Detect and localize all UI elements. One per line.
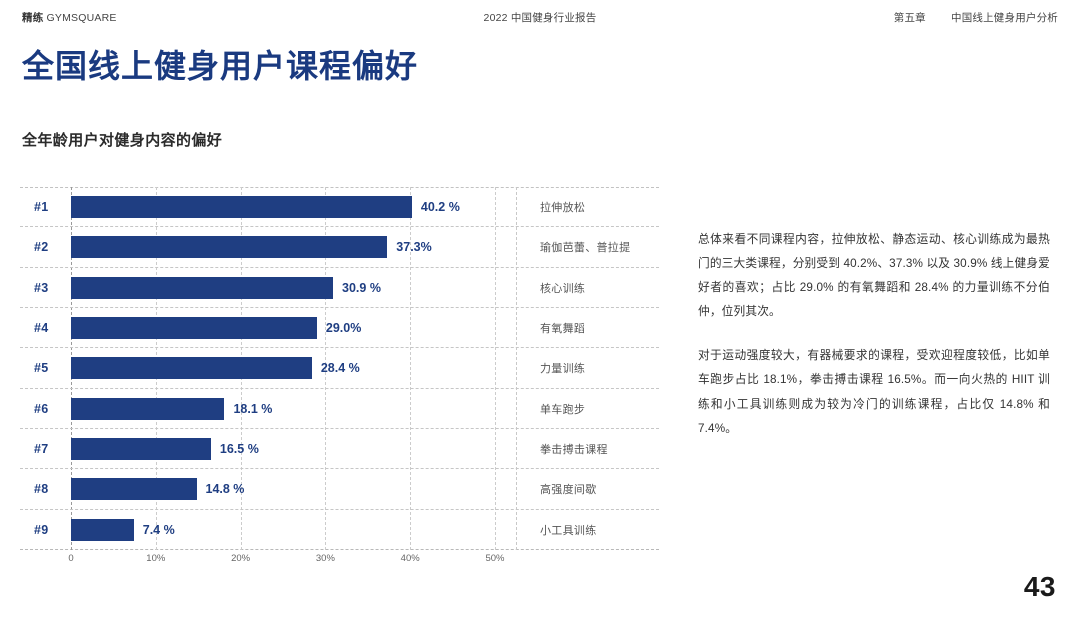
rank-label: #5 bbox=[34, 361, 49, 375]
page-number: 43 bbox=[1024, 571, 1056, 603]
chart-row: #140.2 %拉伸放松 bbox=[20, 187, 659, 227]
category-label: 核心训练 bbox=[540, 280, 585, 296]
chart-x-axis: 010%20%30%40%50% bbox=[20, 553, 659, 573]
chart-row: #716.5 %拳击搏击课程 bbox=[20, 429, 659, 469]
category-label: 单车跑步 bbox=[540, 401, 585, 417]
chart-row: #814.8 %高强度间歇 bbox=[20, 469, 659, 509]
bar-value-label: 37.3% bbox=[396, 240, 431, 254]
rank-label: #2 bbox=[34, 240, 49, 254]
chart-rows: #140.2 %拉伸放松#237.3%瑜伽芭蕾、普拉提#330.9 %核心训练#… bbox=[20, 187, 659, 550]
bar-value-label: 29.0% bbox=[326, 321, 361, 335]
bar-value-label: 16.5 % bbox=[220, 442, 259, 456]
chart-row: #618.1 %单车跑步 bbox=[20, 389, 659, 429]
chart-row: #237.3%瑜伽芭蕾、普拉提 bbox=[20, 227, 659, 267]
category-label: 力量训练 bbox=[540, 360, 585, 376]
bar-chart: #140.2 %拉伸放松#237.3%瑜伽芭蕾、普拉提#330.9 %核心训练#… bbox=[20, 187, 659, 550]
bar bbox=[71, 357, 312, 379]
bar-value-label: 40.2 % bbox=[421, 200, 460, 214]
analysis-notes: 总体来看不同课程内容，拉伸放松、静态运动、核心训练成为最热门的三大类课程，分别受… bbox=[698, 228, 1050, 441]
category-label: 拉伸放松 bbox=[540, 199, 585, 215]
bar bbox=[71, 478, 197, 500]
chart-row: #528.4 %力量训练 bbox=[20, 348, 659, 388]
report-page: 精练 GYMSQUARE 2022 中国健身行业报告 第五章 中国线上健身用户分… bbox=[0, 0, 1080, 619]
rank-label: #1 bbox=[34, 200, 49, 214]
rank-label: #6 bbox=[34, 402, 49, 416]
category-label: 高强度间歇 bbox=[540, 481, 597, 497]
chapter-title: 中国线上健身用户分析 bbox=[951, 12, 1058, 24]
bar-value-label: 7.4 % bbox=[143, 523, 175, 537]
bar-value-label: 18.1 % bbox=[233, 402, 272, 416]
category-label: 有氧舞蹈 bbox=[540, 320, 585, 336]
bar bbox=[71, 277, 333, 299]
x-axis-tick-label: 50% bbox=[485, 553, 504, 564]
rank-label: #4 bbox=[34, 321, 49, 335]
rank-label: #7 bbox=[34, 442, 49, 456]
bar bbox=[71, 519, 134, 541]
bar bbox=[71, 438, 211, 460]
chart-row: #429.0%有氧舞蹈 bbox=[20, 308, 659, 348]
bar bbox=[71, 236, 387, 258]
page-title: 全国线上健身用户课程偏好 bbox=[22, 47, 418, 85]
chart-row: #97.4 %小工具训练 bbox=[20, 510, 659, 550]
header-chapter: 第五章 中国线上健身用户分析 bbox=[894, 10, 1058, 25]
bar-value-label: 14.8 % bbox=[206, 482, 245, 496]
chart-row: #330.9 %核心训练 bbox=[20, 268, 659, 308]
x-axis-tick-label: 30% bbox=[316, 553, 335, 564]
rank-label: #3 bbox=[34, 281, 49, 295]
rank-label: #9 bbox=[34, 523, 49, 537]
chapter-number: 第五章 bbox=[894, 10, 926, 25]
category-label: 拳击搏击课程 bbox=[540, 441, 608, 457]
report-title-text: 2022 中国健身行业报告 bbox=[484, 12, 597, 24]
bar-value-label: 30.9 % bbox=[342, 281, 381, 295]
bar bbox=[71, 317, 317, 339]
x-axis-tick-label: 20% bbox=[231, 553, 250, 564]
page-subtitle: 全年龄用户对健身内容的偏好 bbox=[22, 129, 222, 150]
notes-paragraph-2: 对于运动强度较大，有器械要求的课程，受欢迎程度较低，比如单车跑步占比 18.1%… bbox=[698, 344, 1050, 440]
rank-label: #8 bbox=[34, 482, 49, 496]
bar bbox=[71, 196, 412, 218]
x-axis-tick-label: 10% bbox=[146, 553, 165, 564]
page-header: 精练 GYMSQUARE 2022 中国健身行业报告 第五章 中国线上健身用户分… bbox=[0, 10, 1080, 30]
bar-value-label: 28.4 % bbox=[321, 361, 360, 375]
x-axis-tick-label: 40% bbox=[401, 553, 420, 564]
notes-paragraph-1: 总体来看不同课程内容，拉伸放松、静态运动、核心训练成为最热门的三大类课程，分别受… bbox=[698, 228, 1050, 324]
category-label: 小工具训练 bbox=[540, 522, 597, 538]
category-label: 瑜伽芭蕾、普拉提 bbox=[540, 239, 630, 255]
bar bbox=[71, 398, 224, 420]
x-axis-tick-label: 0 bbox=[68, 553, 73, 564]
